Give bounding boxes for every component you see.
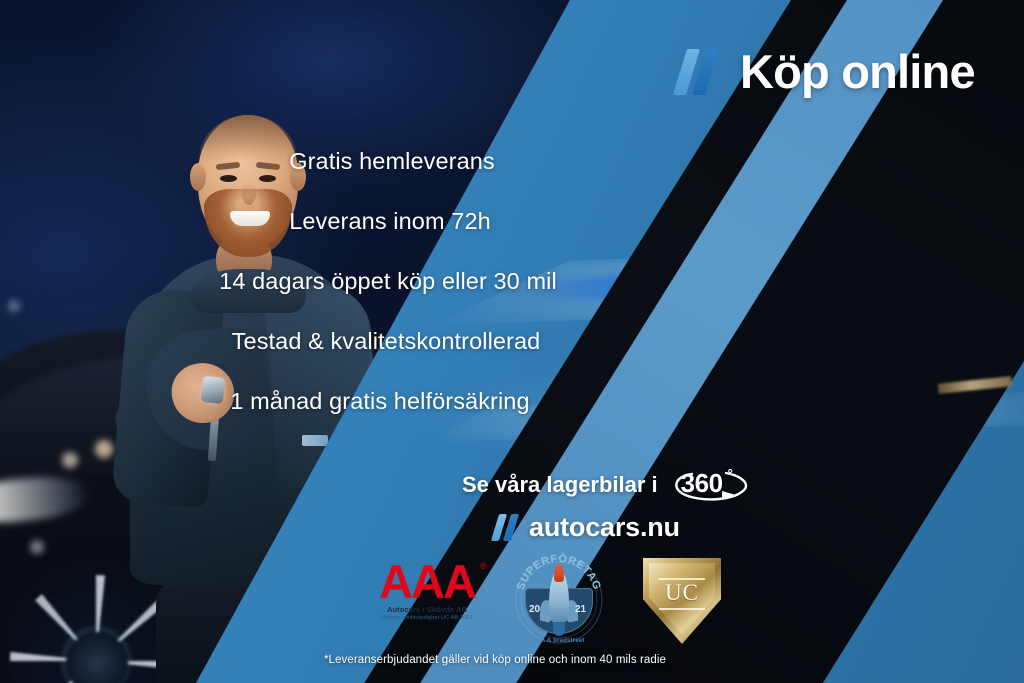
double-slash-icon-small xyxy=(494,514,520,541)
rotation-360-number: 360 xyxy=(681,468,723,499)
disclaimer-text: *Leveranserbjudandet gäller vid köp onli… xyxy=(0,654,1024,666)
feature-item: 1 månad gratis helförsäkring xyxy=(0,388,1024,415)
uc-bottom-rule xyxy=(659,608,705,610)
feature-item: 14 dagars öppet köp eller 30 mil xyxy=(0,268,1024,295)
aaa-credit-rating-badge: AAA ® Autocars i Skövde AB Högsta kredit… xyxy=(365,560,489,622)
website-link[interactable]: autocars.nu xyxy=(494,512,750,543)
double-slash-icon xyxy=(678,49,722,95)
aaa-rating-line: Högsta kreditvärdighet UC AB 2021 xyxy=(365,615,489,622)
superforetag-footer-text: dun & bradstreet xyxy=(513,638,605,644)
advertisement-banner: Köp online Gratis hemleverans Leverans i… xyxy=(0,0,1024,683)
website-url: autocars.nu xyxy=(529,512,680,543)
rotation-360-icon: 360 ° xyxy=(668,466,750,504)
page-title: Köp online xyxy=(740,44,975,99)
cta-text: Se våra lagerbilar i xyxy=(462,472,658,498)
uc-label: UC xyxy=(643,580,721,606)
headline-row: Köp online xyxy=(678,44,975,99)
certification-badges: AAA ® Autocars i Skövde AB Högsta kredit… xyxy=(355,552,755,652)
ad-content: Köp online Gratis hemleverans Leverans i… xyxy=(0,0,1024,683)
superforetag-badge: SUPERFÖRETAG 20 21 dun & bradstreet xyxy=(513,552,605,648)
feature-item: Leverans inom 72h xyxy=(0,208,1024,235)
aaa-letters: AAA xyxy=(379,555,475,608)
uc-shield-badge: UC xyxy=(643,558,721,644)
degree-symbol: ° xyxy=(728,466,733,481)
superforetag-year-left: 20 xyxy=(529,604,540,615)
feature-item: Testad & kvalitetskontrollerad xyxy=(0,328,1024,355)
call-to-action-block[interactable]: Se våra lagerbilar i 360 ° autocars.nu xyxy=(462,466,750,543)
cta-line: Se våra lagerbilar i 360 ° xyxy=(462,466,750,504)
registered-trademark-icon: ® xyxy=(480,562,487,570)
superforetag-year-right: 21 xyxy=(575,604,586,615)
feature-item: Gratis hemleverans xyxy=(0,148,1024,175)
aaa-logo-mark: AAA ® xyxy=(379,560,475,603)
feature-list: Gratis hemleverans Leverans inom 72h 14 … xyxy=(0,148,1024,448)
